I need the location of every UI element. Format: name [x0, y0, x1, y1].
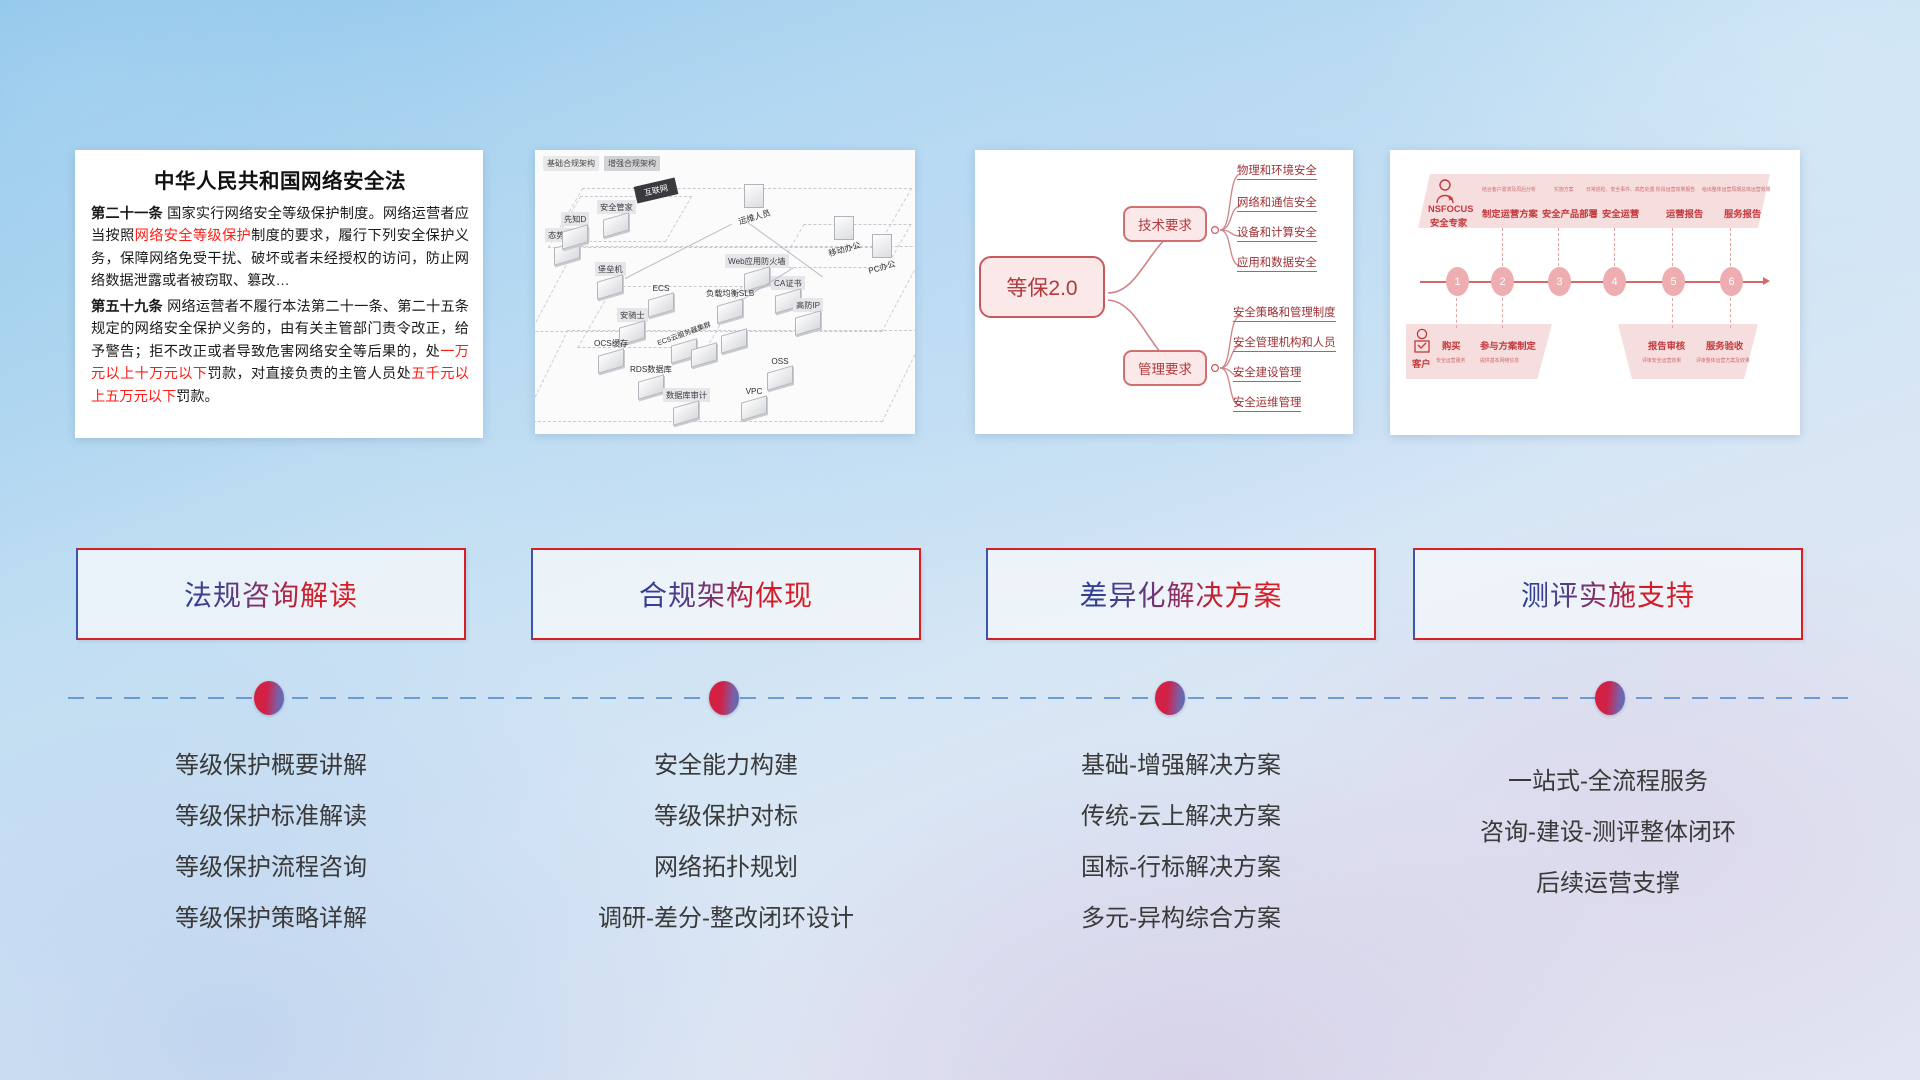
node-ecs-cluster-3: [721, 332, 747, 350]
mindmap-card: 等保2.0 技术要求 管理要求 物理和环境安全 网络和通信安全 设备和计算安全 …: [975, 150, 1353, 434]
node-label: 负载均衡SLB: [703, 286, 757, 300]
heading-box-assessment-support[interactable]: 测评实施支持: [1413, 548, 1803, 640]
node-label: RDS数据库: [627, 362, 675, 376]
node-label: 数据库审计: [663, 388, 710, 402]
mindmap-leaf: 安全运维管理: [1233, 394, 1301, 412]
cube-icon: [767, 365, 793, 390]
law-run-1b-highlight: 网络安全等级保护: [135, 228, 251, 244]
step-dot: 5: [1662, 267, 1685, 296]
law-content: 中华人民共和国网络安全法 第二十一条 国家实行网络安全等级保护制度。网络运营者应…: [75, 150, 483, 419]
list-item: 安全能力构建: [531, 740, 921, 791]
connector: [1558, 228, 1559, 266]
heading-box-regulation-consulting[interactable]: 法规咨询解读: [76, 548, 466, 640]
cube-icon: [717, 298, 743, 323]
mindmap-root: 等保2.0: [979, 256, 1105, 318]
cube-icon: [795, 310, 821, 335]
step-title: 报告审核: [1648, 338, 1685, 352]
timeline-dashed-line: [68, 697, 1858, 699]
node-label: OSS: [768, 356, 791, 367]
cube-icon: [721, 328, 747, 353]
list-item: 一站式-全流程服务: [1413, 756, 1803, 807]
node-label: ECS: [650, 283, 673, 294]
connector: [1672, 298, 1673, 328]
law-paragraph-1: 第二十一条 国家实行网络安全等级保护制度。网络运营者应当按照网络安全等级保护制度…: [91, 203, 469, 293]
node-label: PC办公: [864, 256, 900, 279]
node-label: Web应用防火墙: [725, 254, 789, 268]
connector: [1502, 298, 1503, 328]
connector: [1730, 298, 1731, 328]
step-title: 制定运营方案: [1482, 206, 1538, 220]
mindmap-leaf: 应用和数据安全: [1237, 254, 1317, 272]
timeline-axis: [1420, 281, 1765, 283]
mindmap-leaf: 安全建设管理: [1233, 364, 1301, 382]
mindmap-leaf: 物理和环境安全: [1237, 162, 1317, 180]
step-title: 参与方案制定: [1480, 338, 1536, 352]
step-sub: 实施方案: [1554, 186, 1574, 193]
cube-icon: [562, 224, 588, 249]
law-article-1: 第二十一条: [91, 206, 163, 222]
step-sub: 日常巡检、安全事件、高危处置: [1586, 186, 1654, 193]
node-anti-ddos-ip: 高防IP: [793, 298, 823, 332]
node-vpc: VPC: [741, 386, 767, 417]
customer-icon: [1412, 328, 1432, 354]
timeline-dot-1: [254, 681, 284, 715]
list-item: 等级保护策略详解: [76, 893, 466, 944]
server-icon: [744, 184, 764, 208]
connector: [1502, 228, 1503, 266]
mindmap-branch-tech: 技术要求: [1123, 206, 1207, 242]
step-title: 安全运营: [1602, 206, 1639, 220]
list-column-1: 等级保护概要讲解 等级保护标准解读 等级保护流程咨询 等级保护策略详解: [76, 740, 466, 944]
list-item: 等级保护标准解读: [76, 791, 466, 842]
step-title: 运营报告: [1666, 206, 1703, 220]
connector: [1456, 298, 1457, 328]
nsfocus-timeline-card: ★ NSFOCUS 安全专家 结合客户需求及周后分析 制定运营方案 实施方案 安…: [1390, 150, 1800, 435]
step-dot: 1: [1446, 267, 1469, 296]
tab-basic-framework[interactable]: 基础合规架构: [543, 156, 599, 171]
step-title: 安全产品部署: [1542, 206, 1598, 220]
list-column-2: 安全能力构建 等级保护对标 网络拓扑规划 调研-差分-整改闭环设计: [531, 740, 921, 944]
law-run-2e: 罚款。: [176, 389, 219, 405]
cube-icon: [648, 292, 674, 317]
timeline-arrow-icon: [1763, 277, 1770, 285]
connector: [1730, 228, 1731, 266]
law-card: 中华人民共和国网络安全法 第二十一条 国家实行网络安全等级保护制度。网络运营者应…: [75, 150, 483, 438]
node-label: OCS缓存: [591, 336, 631, 350]
mindmap: 等保2.0 技术要求 管理要求 物理和环境安全 网络和通信安全 设备和计算安全 …: [975, 150, 1353, 434]
nsfocus-timeline: ★ NSFOCUS 安全专家 结合客户需求及周后分析 制定运营方案 实施方案 安…: [1390, 150, 1800, 435]
law-run-2c: 罚款，对直接负责的主管人员处: [207, 366, 411, 382]
node-ops-staff: 运维人员: [735, 184, 774, 226]
step-dot: 3: [1548, 267, 1571, 296]
mindmap-leaf: 安全策略和管理制度: [1233, 304, 1336, 322]
step-sub: 给出整体运营周期总体运营效果: [1702, 186, 1770, 193]
list-item: 等级保护概要讲解: [76, 740, 466, 791]
mindmap-leaf: 安全管理机构和人员: [1233, 334, 1336, 352]
architecture-card: 基础合规架构 增强合规架构 互联网 态势感知D 先知D 安全管家 堡垒机 安骑士…: [535, 150, 915, 434]
list-item: 基础-增强解决方案: [986, 740, 1376, 791]
step-title: 购买: [1442, 338, 1461, 352]
step-title: 服务验收: [1706, 338, 1743, 352]
node-pc-office: PC办公: [865, 234, 899, 276]
node-ocs-cache: OCS缓存: [591, 336, 631, 370]
mindmap-leaf: 网络和通信安全: [1237, 194, 1317, 212]
step-sub: 评审安全运营效果: [1642, 357, 1681, 364]
architecture-tabs: 基础合规架构 增强合规架构: [543, 156, 660, 171]
step-dot: 6: [1720, 267, 1743, 296]
list-item: 咨询-建设-测评整体闭环: [1413, 807, 1803, 858]
heading-box-differentiated-solution[interactable]: 差异化解决方案: [986, 548, 1376, 640]
cube-icon: [597, 274, 623, 299]
list-item: 等级保护对标: [531, 791, 921, 842]
cube-icon: [638, 374, 664, 399]
node-ecs-cluster-2: [691, 346, 717, 364]
list-item: 国标-行标解决方案: [986, 842, 1376, 893]
step-sub: 结合客户需求及周后分析: [1482, 186, 1536, 193]
node-label: 移动办公: [824, 237, 865, 261]
architecture-diagram: 基础合规架构 增强合规架构 互联网 态势感知D 先知D 安全管家 堡垒机 安骑士…: [535, 150, 915, 434]
node-oss: OSS: [767, 356, 793, 387]
node-ecs: ECS: [648, 283, 674, 314]
node-db-audit: 数据库审计: [663, 388, 710, 422]
timeline-dot-2: [709, 681, 739, 715]
node-bastion-host: 堡垒机: [595, 262, 626, 296]
cube-icon: [673, 400, 699, 425]
law-title: 中华人民共和国网络安全法: [91, 164, 469, 194]
expert-role: 安全专家: [1430, 215, 1467, 229]
node-label: 安全管家: [597, 200, 636, 214]
cube-icon: [691, 342, 717, 367]
heading-label: 测评实施支持: [1521, 574, 1695, 614]
law-article-2: 第五十九条: [91, 299, 163, 315]
law-paragraph-2: 第五十九条 网络运营者不履行本法第二十一条、第二十五条规定的网络安全保护义务的，…: [91, 296, 469, 408]
expert-name: NSFOCUS: [1428, 204, 1473, 214]
step-sub: 提供基本网络信息: [1480, 357, 1519, 364]
heading-label: 差异化解决方案: [1079, 574, 1282, 614]
list-item: 调研-差分-整改闭环设计: [531, 893, 921, 944]
list-column-4: 一站式-全流程服务 咨询-建设-测评整体闭环 后续运营支撑: [1413, 756, 1803, 909]
list-item: 后续运营支撑: [1413, 858, 1803, 909]
customer-label: 客户: [1412, 356, 1431, 370]
step-sub: 评审整体运营方案及效果: [1696, 357, 1750, 364]
list-item: 传统-云上解决方案: [986, 791, 1376, 842]
list-item: 网络拓扑规划: [531, 842, 921, 893]
heading-label: 法规咨询解读: [184, 574, 358, 614]
list-item: 等级保护流程咨询: [76, 842, 466, 893]
node-slb: 负载均衡SLB: [703, 286, 757, 320]
step-sub: 阶段运营效果报告: [1656, 186, 1695, 193]
headings-row: 法规咨询解读 合规架构体现 差异化解决方案 测评实施支持: [0, 548, 1920, 640]
cards-row: 中华人民共和国网络安全法 第二十一条 国家实行网络安全等级保护制度。网络运营者应…: [0, 150, 1920, 440]
node-security-steward: 安全管家: [597, 200, 636, 234]
node-mobile-office: 移动办公: [825, 216, 864, 258]
cube-icon: [741, 395, 767, 420]
cube-icon: [603, 212, 629, 237]
svg-text:★: ★: [1447, 194, 1454, 203]
connector: [1672, 228, 1673, 266]
step-dot: 4: [1603, 267, 1626, 296]
list-column-3: 基础-增强解决方案 传统-云上解决方案 国标-行标解决方案 多元-异构综合方案: [986, 740, 1376, 944]
node-label: VPC: [743, 386, 766, 397]
timeline-dot-4: [1595, 681, 1625, 715]
step-sub: 安全运营服务: [1436, 357, 1465, 364]
node-label: 运维人员: [734, 205, 775, 229]
node-xianzhi-d: 先知D: [561, 212, 589, 246]
server-icon: [834, 216, 854, 240]
heading-box-compliance-architecture[interactable]: 合规架构体现: [531, 548, 921, 640]
cube-icon: [598, 348, 624, 373]
heading-label: 合规架构体现: [639, 574, 813, 614]
tab-enhanced-framework[interactable]: 增强合规架构: [604, 156, 660, 171]
step-dot: 2: [1491, 267, 1514, 296]
timeline-dot-3: [1155, 681, 1185, 715]
connector: [1614, 228, 1615, 266]
expert-icon: ★: [1434, 178, 1456, 204]
mindmap-leaf: 设备和计算安全: [1237, 224, 1317, 242]
step-title: 服务报告: [1724, 206, 1761, 220]
mindmap-branch-mgmt: 管理要求: [1123, 350, 1207, 386]
server-icon: [872, 234, 892, 258]
list-item: 多元-异构综合方案: [986, 893, 1376, 944]
